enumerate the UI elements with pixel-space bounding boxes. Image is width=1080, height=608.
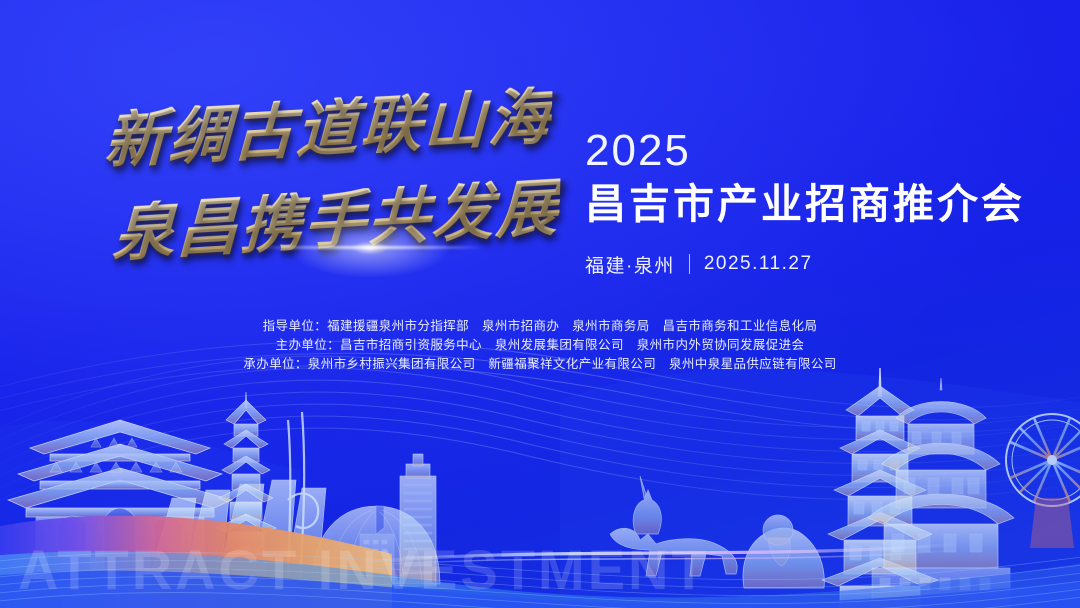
calligraphy-title: 新绸古道联山海 泉昌携手共发展 [96, 92, 566, 287]
traditional-pavilion [868, 378, 1014, 608]
ferris-wheel [1006, 414, 1080, 548]
event-date: 2025.11.27 [704, 253, 813, 275]
calligraphy-line-1: 新绸古道联山海 [103, 85, 552, 172]
event-location: 福建·泉州 [585, 251, 675, 278]
credit-line-guidance: 指导单位：福建援疆泉州市分指挥部 泉州市招商办 泉州市商务局 昌吉市商务和工业信… [0, 317, 1080, 336]
horse-statue [610, 476, 737, 576]
calligraphy-line-2: 泉昌携手共发展 [112, 177, 561, 266]
skyline-illustration [0, 348, 1080, 608]
event-title: 昌吉市产业招商推介会 [585, 178, 1025, 230]
poster-canvas: 新绸古道联山海 泉昌携手共发展 2025 昌吉市产业招商推介会 福建·泉州 20… [0, 0, 1080, 608]
meta-divider [689, 254, 690, 274]
event-year: 2025 [585, 128, 1025, 174]
event-meta: 福建·泉州 2025.11.27 [585, 251, 1025, 278]
credit-line-organizer: 承办单位：泉州市乡村振兴集团有限公司 新疆福聚祥文化产业有限公司 泉州中泉星品供… [0, 355, 1080, 374]
credit-line-host: 主办单位：昌吉市招商引资服务中心 泉州发展集团有限公司 泉州市内外贸协同发展促进… [0, 336, 1080, 355]
headline-block: 2025 昌吉市产业招商推介会 福建·泉州 2025.11.27 [585, 128, 1025, 278]
skyscraper [400, 454, 436, 586]
organizer-credits: 指导单位：福建援疆泉州市分指挥部 泉州市招商办 泉州市商务局 昌吉市商务和工业信… [0, 317, 1080, 374]
